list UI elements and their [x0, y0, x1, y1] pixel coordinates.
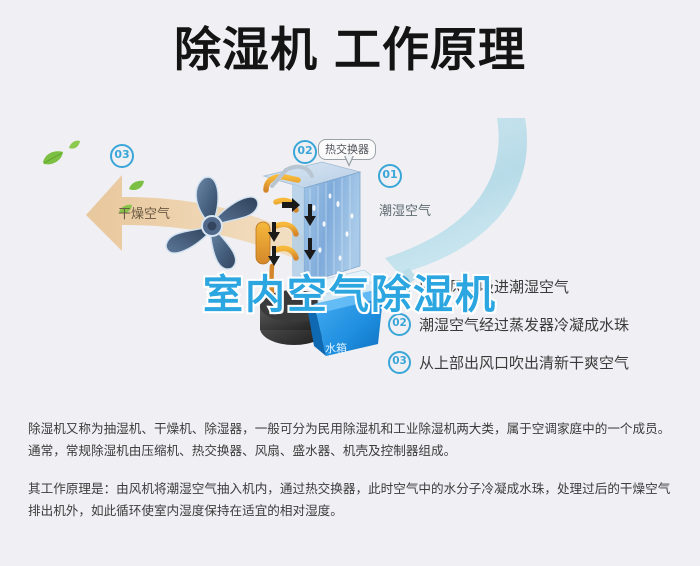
- page-title-part1: 除湿机: [174, 23, 318, 78]
- badge-02-heat-exchanger: 02: [293, 140, 317, 164]
- paragraph-1: 除湿机又称为抽湿机、干燥机、除湿器，一般可分为民用除湿机和工业除湿机两大类，属于…: [28, 418, 674, 462]
- page-title-text: 除湿机工作原理: [174, 24, 526, 78]
- leaf-icon: [68, 140, 81, 150]
- legend-list: 01 由进风口吸进潮湿空气 02 潮湿空气经过蒸发器冷凝成水珠 03 从上部出风…: [388, 270, 688, 384]
- page-title: 除湿机工作原理: [0, 24, 700, 78]
- leaf-icon: [42, 150, 64, 166]
- page-title-part2: 工作原理: [334, 23, 526, 78]
- page-root: 除湿机工作原理: [0, 0, 700, 566]
- legend-label: 从上部出风口吹出清新干爽空气: [419, 352, 629, 373]
- list-item: 03 从上部出风口吹出清新干爽空气: [388, 346, 688, 378]
- legend-number: 03: [388, 351, 411, 374]
- list-item: 01 由进风口吸进潮湿空气: [388, 270, 688, 302]
- badge-01-humid-air: 01: [378, 164, 402, 188]
- label-water-tank: 水箱: [325, 340, 347, 356]
- paragraph-2: 其工作原理是：由风机将潮湿空气抽入机内，通过热交换器，此时空气中的水分子冷凝成水…: [28, 478, 674, 522]
- label-dry-air: 干燥空气: [118, 203, 170, 222]
- label-humid-air: 潮湿空气: [379, 200, 431, 219]
- list-item: 02 潮湿空气经过蒸发器冷凝成水珠: [388, 308, 688, 340]
- legend-number: 01: [388, 275, 411, 298]
- legend-label: 由进风口吸进潮湿空气: [419, 276, 569, 297]
- body-copy: 除湿机又称为抽湿机、干燥机、除湿器，一般可分为民用除湿机和工业除湿机两大类，属于…: [28, 418, 674, 538]
- legend-label: 潮湿空气经过蒸发器冷凝成水珠: [419, 314, 629, 335]
- badge-03-dry-air: 03: [110, 144, 134, 168]
- leaf-icon: [128, 180, 145, 192]
- callout-tail: [344, 156, 354, 167]
- legend-number: 02: [388, 313, 411, 336]
- dehumidifier-machine: [252, 146, 392, 366]
